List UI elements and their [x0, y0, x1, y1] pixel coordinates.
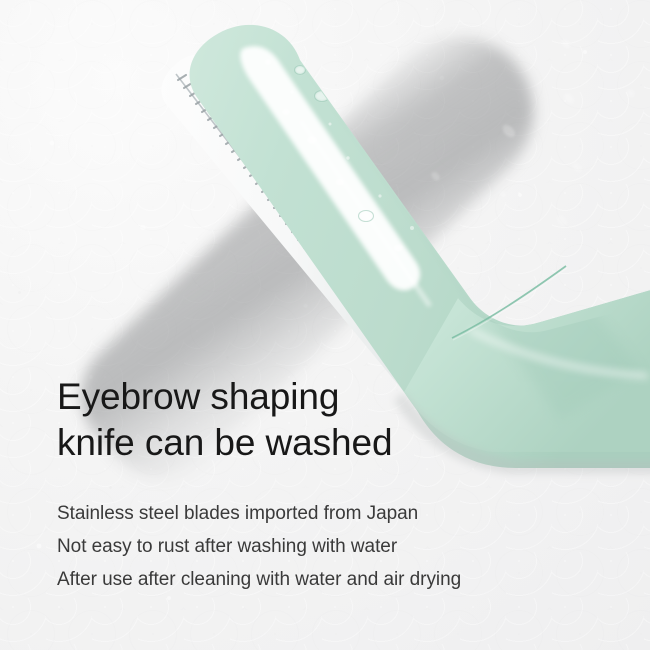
product-banner: Eyebrow shaping knife can be washed Stai…	[0, 0, 650, 650]
headline: Eyebrow shaping knife can be washed	[57, 374, 597, 466]
feature-item: After use after cleaning with water and …	[57, 563, 597, 596]
feature-item: Not easy to rust after washing with wate…	[57, 530, 597, 563]
feature-item: Stainless steel blades imported from Jap…	[57, 497, 597, 530]
copy-block: Eyebrow shaping knife can be washed Stai…	[57, 374, 597, 596]
feature-list: Stainless steel blades imported from Jap…	[57, 497, 597, 596]
